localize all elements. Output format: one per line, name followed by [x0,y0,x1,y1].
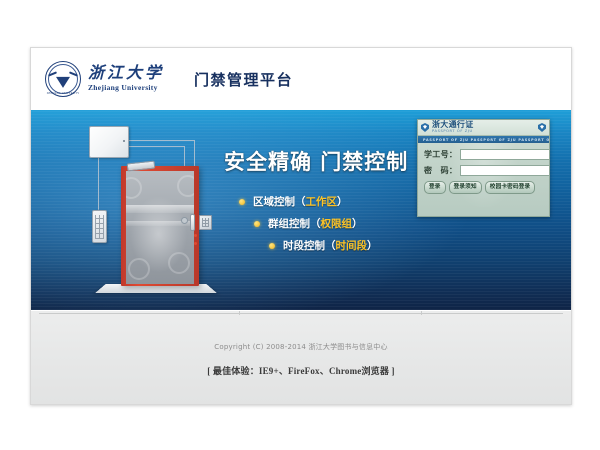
login-notice-button[interactable]: 登录须知 [449,181,482,194]
cable-top-a [127,140,195,142]
bullet-dot-icon [239,199,245,205]
field-row-userid: 学工号： [424,149,543,160]
campus-card-login-button[interactable]: 校园卡密码登录 [485,181,536,194]
feature-item-time-control: 时段控制（ 时间段 ） [269,238,434,253]
footer-seam [39,313,563,314]
card-reader-icon [199,215,212,230]
keypad-reader-icon [92,210,107,243]
login-panel-title: 浙大通行证 PASSPORT OF ZJU [429,121,474,134]
zju-seal-icon: ZHEJIANG UNIVERSITY [45,61,81,97]
university-name-en: Zhejiang University [88,84,164,92]
access-control-door-illustration [73,122,223,302]
feature-label: 时段控制（ [283,238,336,253]
site-footer: Copyright (C) 2008-2014 浙江大学图书与信息中心 [ 最佳… [31,310,571,404]
password-label: 密 码： [424,165,460,176]
cable-top-b [127,146,185,148]
zju-logo[interactable]: ZHEJIANG UNIVERSITY 浙江大学 Zhejiang Univer… [45,61,164,97]
feature-item-area-control: 区域控制（ 工作区 ） [239,194,434,209]
shield-icon-right [538,123,546,132]
feature-highlight: 工作区 [306,194,338,209]
copyright-text: Copyright (C) 2008-2014 浙江大学图书与信息中心 [31,342,571,352]
status-led-red-2 [194,242,197,245]
bullet-dot-icon [269,243,275,249]
banner-headline: 安全精确 门禁控制 [224,146,434,176]
login-title-cn: 浙大通行证 [432,121,474,129]
ticker-text: PASSPORT OF ZJU PASSPORT OF ZJU PASSPORT… [423,138,549,142]
page-title: 门禁管理平台 [194,69,293,90]
zju-wordmark: 浙江大学 Zhejiang University [88,66,164,92]
login-panel-titlebar: 浙大通行证 PASSPORT OF ZJU [418,120,549,136]
cable-left [98,156,100,210]
browser-support-note: [ 最佳体验：IE9+、FireFox、Chrome浏览器 ] [31,364,571,377]
login-title-en: PASSPORT OF ZJU [432,130,474,134]
userid-input[interactable] [460,149,550,160]
bullet-dot-icon [254,221,260,227]
feature-tail: ） [367,238,378,253]
userid-label: 学工号： [424,149,460,160]
login-panel: 浙大通行证 PASSPORT OF ZJU PASSPORT OF ZJU PA… [417,119,550,217]
login-button[interactable]: 登录 [424,181,446,194]
status-led-red [194,234,197,237]
footer-notch-right [421,311,422,315]
banner-feature-list: 区域控制（ 工作区 ） 群组控制（ 权限组 ） 时段控制（ 时间段 ） [224,194,434,253]
feature-tail: ） [337,194,348,209]
glass-door-leaf [126,171,194,284]
red-door-frame [121,166,199,286]
door-handle-icon [190,214,195,231]
controller-box-icon [89,126,129,158]
feature-tail: ） [352,216,363,231]
site-header: ZHEJIANG UNIVERSITY 浙江大学 Zhejiang Univer… [31,48,571,110]
login-form: 学工号： 密 码： 登录 登录须知 校园卡密码登录 [418,143,549,198]
feature-label: 区域控制（ [253,194,306,209]
password-input[interactable] [460,165,550,176]
seal-text: ZHEJIANG UNIVERSITY [46,92,80,95]
university-name-cn: 浙江大学 [88,66,164,82]
door-knob-icon [181,217,188,224]
feature-highlight: 时间段 [336,238,368,253]
field-row-password: 密 码： [424,165,543,176]
hero-banner: 安全精确 门禁控制 区域控制（ 工作区 ） 群组控制（ 权限组 ） 时段控制（ [31,110,571,310]
shield-icon [421,123,429,132]
banner-copy: 安全精确 门禁控制 区域控制（ 工作区 ） 群组控制（ 权限组 ） 时段控制（ [224,146,434,260]
login-ticker-strip: PASSPORT OF ZJU PASSPORT OF ZJU PASSPORT… [418,136,549,143]
feature-item-group-control: 群组控制（ 权限组 ） [254,216,434,231]
login-button-group: 登录 登录须知 校园卡密码登录 [424,181,543,194]
feature-highlight: 权限组 [321,216,353,231]
feature-label: 群组控制（ [268,216,321,231]
page-frame: ZHEJIANG UNIVERSITY 浙江大学 Zhejiang Univer… [30,47,572,405]
footer-notch-left [239,311,240,315]
